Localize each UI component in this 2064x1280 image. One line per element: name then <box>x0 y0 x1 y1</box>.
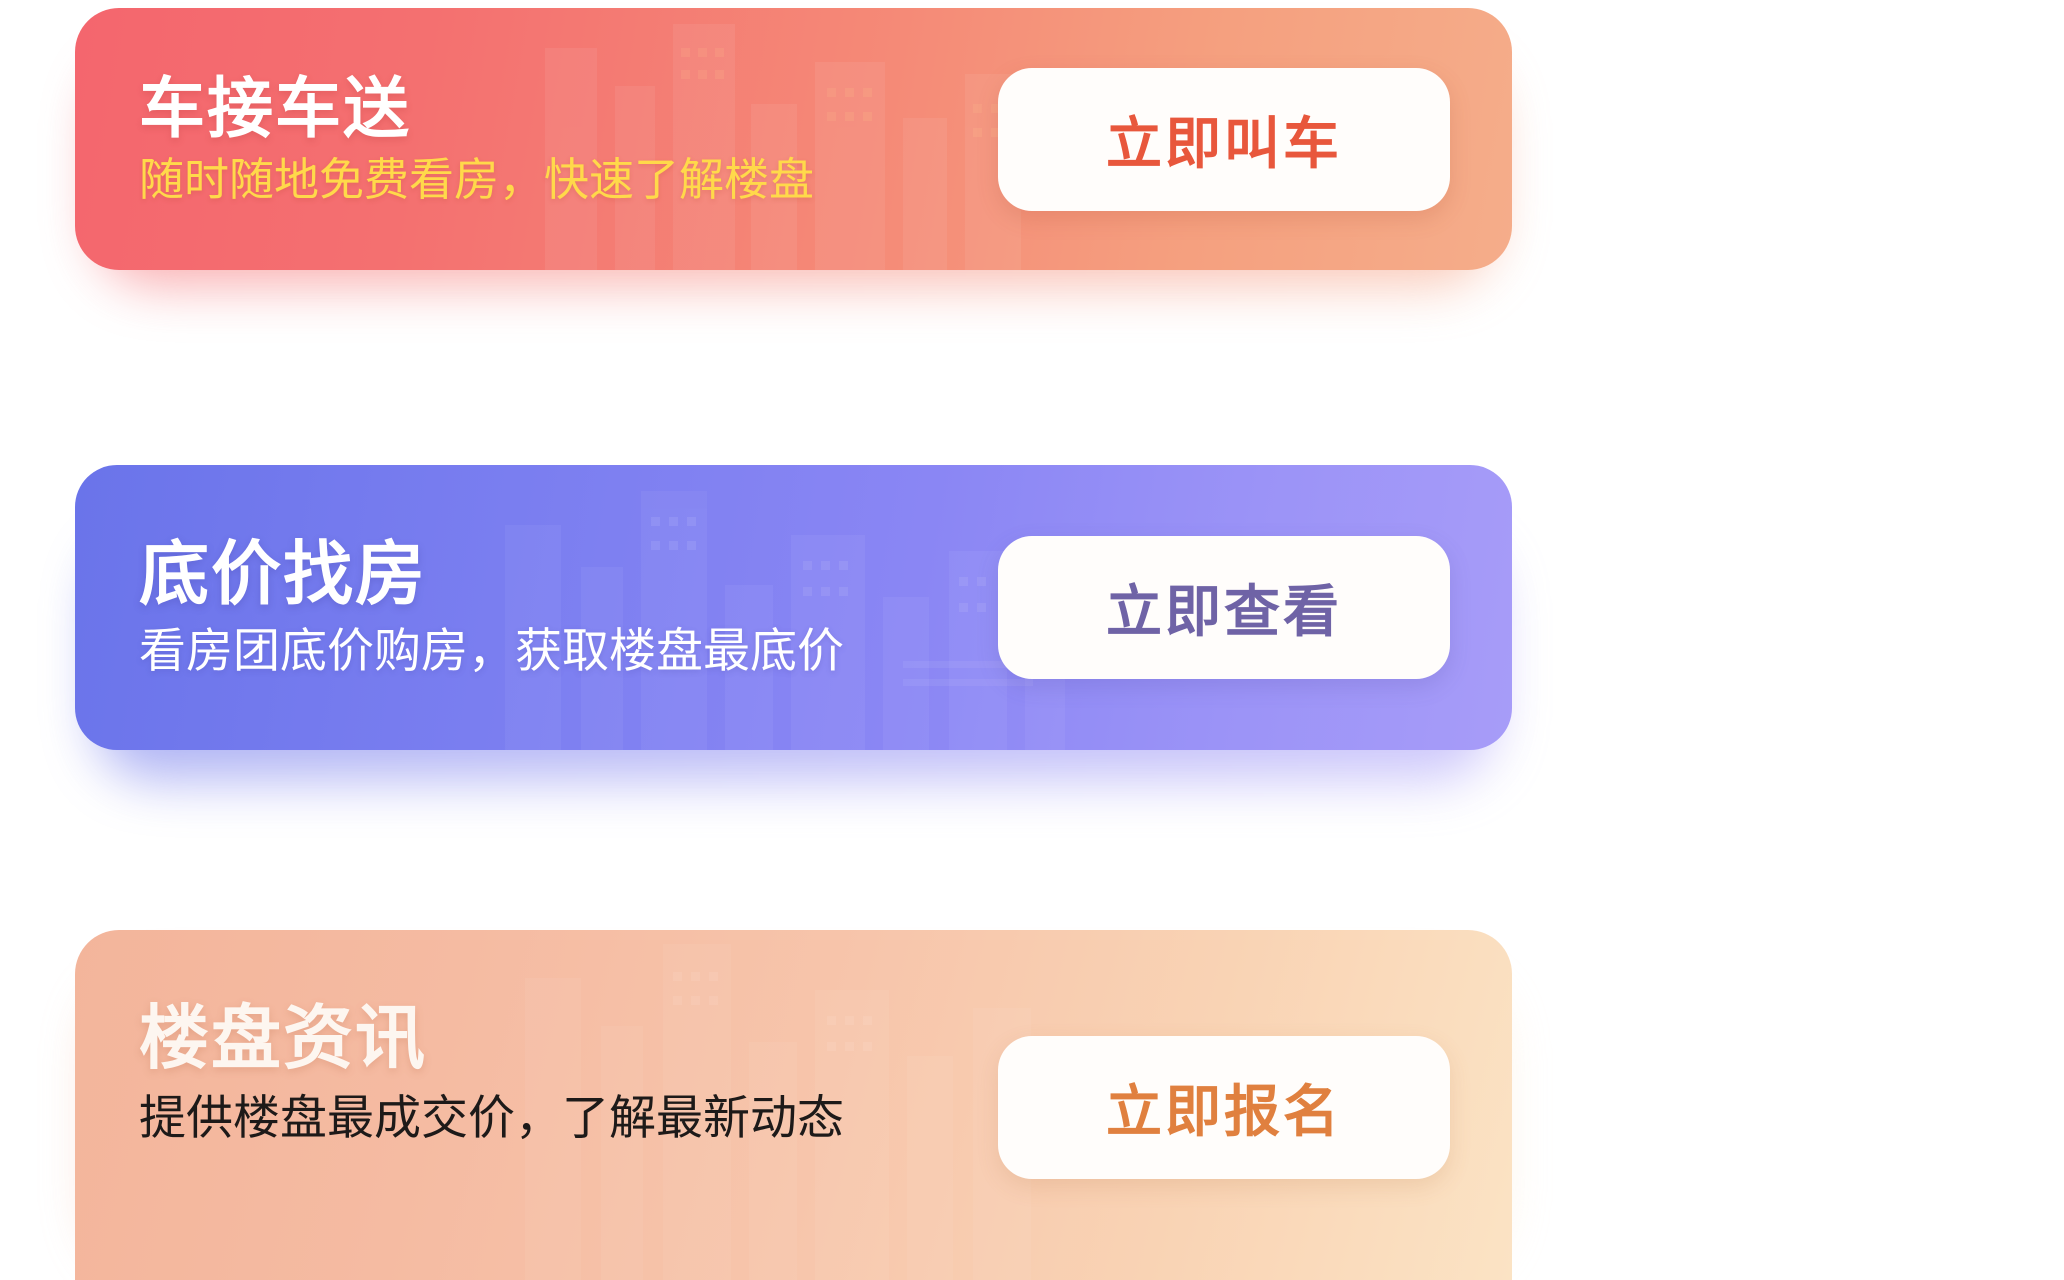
card-body-lou-pan-zi-xun: 楼盘资讯 提供楼盘最成交价，了解最新动态 立即报名 <box>75 930 1512 1280</box>
card-subtitle-che-jie-che-song: 随时随地免费看房，快速了解楼盘 <box>139 155 814 205</box>
card-text-di-jia-zhao-fang: 底价找房 看房团底价购房，获取楼盘最底价 <box>139 538 844 677</box>
promo-card-di-jia-zhao-fang[interactable]: 底价找房 看房团底价购房，获取楼盘最底价 立即查看 <box>75 465 1512 750</box>
card-subtitle-di-jia-zhao-fang: 看房团底价购房，获取楼盘最底价 <box>139 625 844 677</box>
card-text-che-jie-che-song: 车接车送 随时随地免费看房，快速了解楼盘 <box>139 74 814 205</box>
cta-wrap-lou-pan-zi-xun: 立即报名 <box>998 1036 1450 1179</box>
cta-button-view-now[interactable]: 立即查看 <box>998 536 1450 679</box>
card-body-che-jie-che-song: 车接车送 随时随地免费看房，快速了解楼盘 立即叫车 <box>75 8 1512 270</box>
cta-button-call-car[interactable]: 立即叫车 <box>998 68 1450 211</box>
promo-card-lou-pan-zi-xun[interactable]: 楼盘资讯 提供楼盘最成交价，了解最新动态 立即报名 <box>75 930 1512 1280</box>
card-title-di-jia-zhao-fang: 底价找房 <box>139 538 844 612</box>
card-title-che-jie-che-song: 车接车送 <box>139 74 814 143</box>
card-text-lou-pan-zi-xun: 楼盘资讯 提供楼盘最成交价，了解最新动态 <box>139 1002 844 1143</box>
cta-button-sign-up[interactable]: 立即报名 <box>998 1036 1450 1179</box>
card-title-lou-pan-zi-xun: 楼盘资讯 <box>139 1002 844 1076</box>
promo-banner-stage: 车接车送 随时随地免费看房，快速了解楼盘 立即叫车 <box>0 0 2064 1280</box>
card-body-di-jia-zhao-fang: 底价找房 看房团底价购房，获取楼盘最底价 立即查看 <box>75 465 1512 750</box>
card-subtitle-lou-pan-zi-xun: 提供楼盘最成交价，了解最新动态 <box>139 1092 844 1144</box>
promo-card-che-jie-che-song[interactable]: 车接车送 随时随地免费看房，快速了解楼盘 立即叫车 <box>75 8 1512 270</box>
